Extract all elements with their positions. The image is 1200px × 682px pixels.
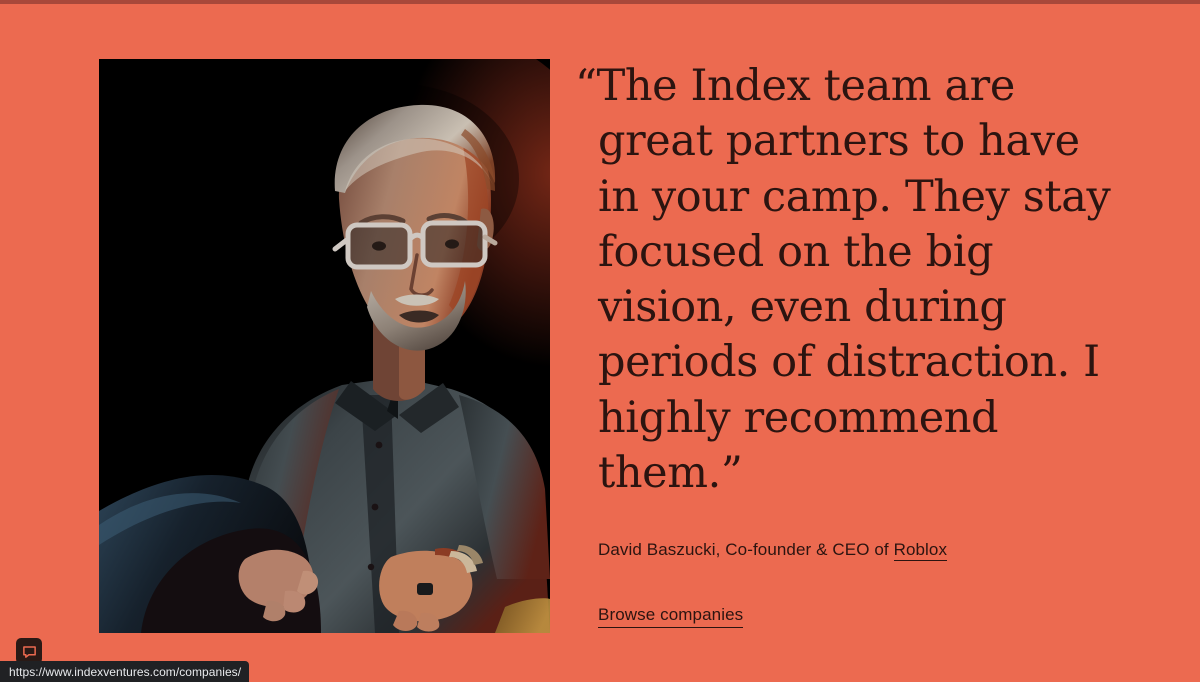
testimonial-quote: “The Index team are great partners to ha… xyxy=(598,59,1118,501)
testimonial-section: “The Index team are great partners to ha… xyxy=(99,59,1119,633)
attribution-name: David Baszucki, Co-founder & CEO of xyxy=(598,540,894,559)
testimonial-attribution: David Baszucki, Co-founder & CEO of Robl… xyxy=(598,538,1119,562)
browser-status-bar: https://www.indexventures.com/companies/ xyxy=(0,661,249,682)
company-link-roblox[interactable]: Roblox xyxy=(894,540,948,561)
status-bar-url: https://www.indexventures.com/companies/ xyxy=(9,665,241,679)
portrait-photo xyxy=(99,59,550,633)
quote-column: “The Index team are great partners to ha… xyxy=(550,59,1119,628)
browse-companies-link[interactable]: Browse companies xyxy=(598,605,743,628)
page-canvas: “The Index team are great partners to ha… xyxy=(0,4,1200,682)
